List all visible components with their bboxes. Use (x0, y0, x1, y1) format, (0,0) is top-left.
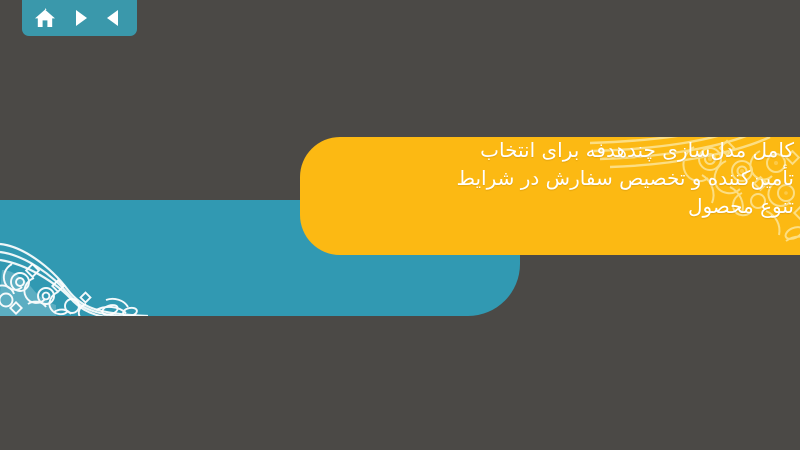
title-line-1: کامل مدل‌سازی چندهدفه برای انتخاب (294, 136, 794, 164)
title-line-2: تأمین‌کننده و تخصیص سفارش در شرایط (294, 164, 794, 192)
presentation-slide: کامل مدل‌سازی چندهدفه برای انتخاب تأمین‌… (0, 0, 800, 450)
previous-slide-button[interactable] (100, 4, 128, 32)
next-slide-button[interactable] (66, 4, 94, 32)
home-slide-button[interactable] (31, 4, 59, 32)
title-line-3: تنوع محصول (294, 192, 794, 220)
arabesque-corner-ornament (0, 200, 148, 316)
slide-navigation-bar (22, 0, 137, 36)
page-title: کامل مدل‌سازی چندهدفه برای انتخاب تأمین‌… (294, 136, 794, 220)
triangle-left-icon (103, 7, 125, 29)
home-icon (33, 6, 57, 30)
triangle-right-icon (69, 7, 91, 29)
